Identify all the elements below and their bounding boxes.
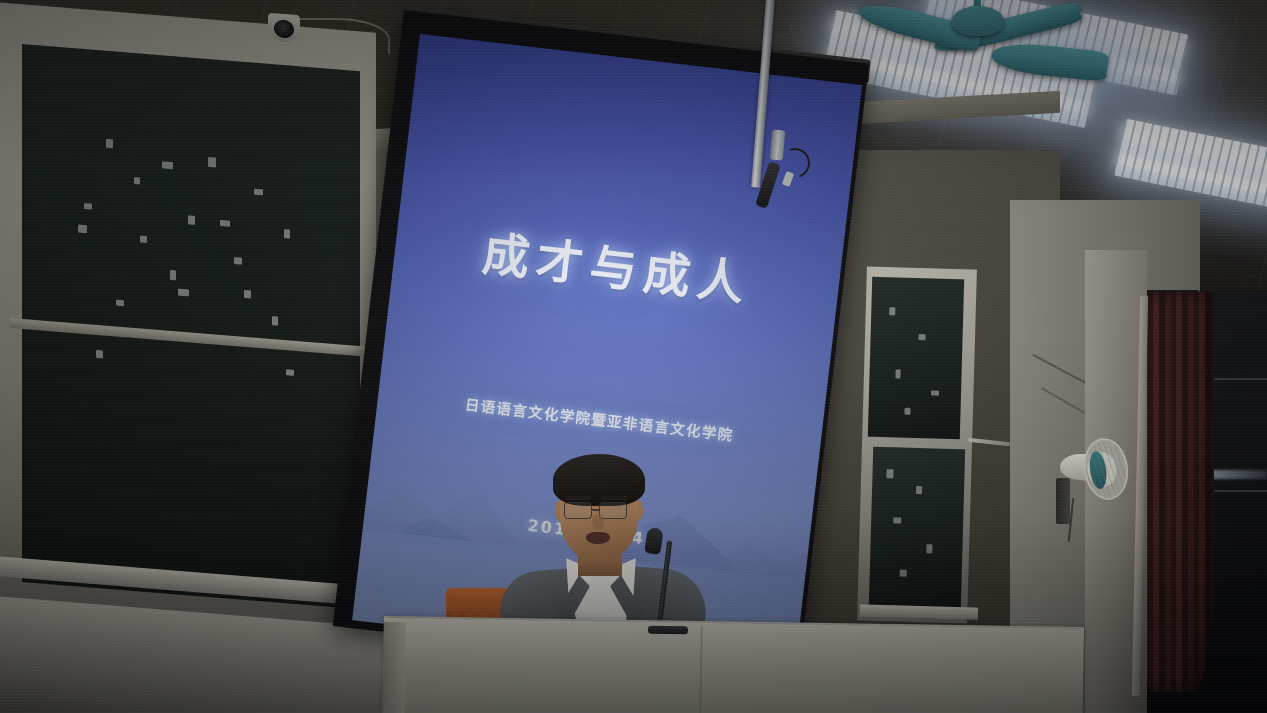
camera-lens-icon bbox=[274, 19, 294, 38]
eyeglasses-bridge bbox=[592, 509, 600, 511]
nose bbox=[592, 514, 604, 530]
podium-side-face bbox=[383, 622, 406, 713]
eyeglasses-lens-left bbox=[564, 502, 592, 519]
desk-microphone-base bbox=[648, 626, 688, 635]
lecture-hall-photo: 成才与成人 日语语言文化学院暨亚非语言文化学院 陈多友 2019，3.24 bbox=[0, 0, 1267, 713]
blackboard-right-upper bbox=[868, 277, 964, 440]
eyebrow-right bbox=[601, 496, 627, 500]
ceiling-fan-icon bbox=[952, 6, 1004, 36]
podium bbox=[383, 618, 1084, 713]
slide-title: 成才与成人 bbox=[392, 205, 842, 325]
curtain bbox=[1142, 292, 1214, 692]
blackboard-right-lower bbox=[869, 447, 965, 610]
eyebrow-left bbox=[565, 496, 591, 500]
wall-fan-bracket bbox=[1056, 478, 1070, 524]
mouth bbox=[586, 532, 610, 544]
